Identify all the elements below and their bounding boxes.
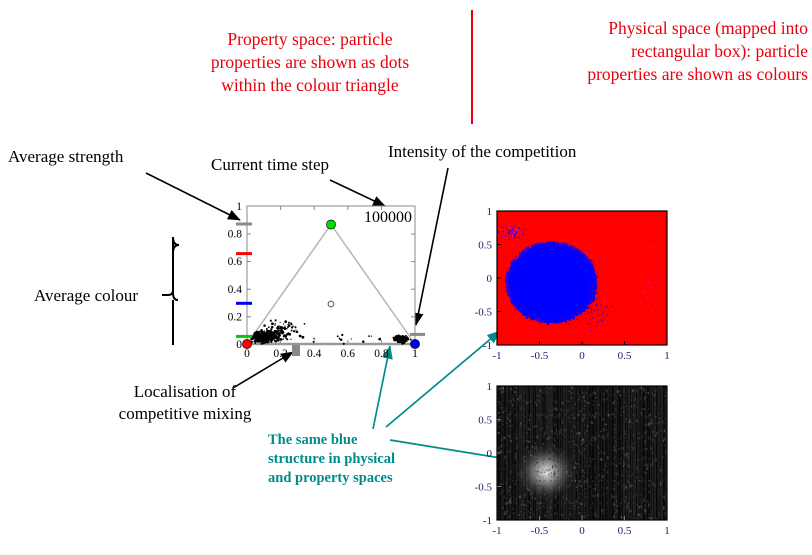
svg-text:0.6: 0.6 <box>228 256 243 268</box>
annotation-current-time-step: Current time step <box>211 154 329 176</box>
svg-text:0.5: 0.5 <box>478 240 492 252</box>
svg-text:0.8: 0.8 <box>374 348 389 360</box>
vertex-dot-red <box>242 339 251 348</box>
localisation-bar <box>292 345 300 356</box>
grayscale-y-ticks: 1 0.5 0 -0.5 -1 <box>475 381 493 527</box>
svg-text:1: 1 <box>487 206 493 218</box>
svg-text:-0.5: -0.5 <box>531 525 549 537</box>
right-header-line-2: rectangular box): particle <box>492 40 808 63</box>
svg-text:0.5: 0.5 <box>618 525 632 537</box>
same-blue-line-2: structure in physical <box>268 450 443 469</box>
svg-text:0: 0 <box>244 348 250 360</box>
annotation-intensity-of-competition: Intensity of the competition <box>388 141 576 163</box>
same-blue-line-1: The same blue <box>268 431 443 450</box>
right-header-line-1: Physical space (mapped into <box>492 17 808 40</box>
svg-text:0: 0 <box>236 339 242 351</box>
grayscale-x-ticks: -1 -0.5 0 0.5 1 <box>492 525 669 537</box>
svg-text:0.8: 0.8 <box>228 229 243 241</box>
physical-red-blue-y-ticks: 1 0.5 0 -0.5 -1 <box>475 206 493 352</box>
svg-text:-1: -1 <box>483 515 492 527</box>
svg-text:0.2: 0.2 <box>273 348 288 360</box>
right-header-text: Physical space (mapped into rectangular … <box>492 17 808 86</box>
left-header-line-3: within the colour triangle <box>160 74 460 97</box>
physical-space-red-blue-plot[interactable]: 1 0.5 0 -0.5 -1 -1 -0.5 0 0.5 1 <box>470 200 700 370</box>
same-blue-line-3: and property spaces <box>268 469 443 488</box>
svg-text:0.4: 0.4 <box>228 284 243 296</box>
svg-text:-1: -1 <box>483 340 492 352</box>
physical-red-blue-x-ticks: -1 -0.5 0 0.5 1 <box>492 350 669 362</box>
annotation-localisation: Localisation of competitive mixing <box>110 381 260 425</box>
average-colour-brace <box>162 237 179 295</box>
annotation-same-blue-structure: The same blue structure in physical and … <box>268 431 443 488</box>
property-space-plot[interactable]: 1 0.8 0.6 0.4 0.2 0 0 0.2 0.4 0.6 0.8 1 <box>222 196 432 381</box>
svg-text:0.5: 0.5 <box>478 415 492 427</box>
svg-text:0.2: 0.2 <box>228 311 243 323</box>
annotation-average-strength: Average strength <box>8 146 123 168</box>
localisation-line-2: competitive mixing <box>110 403 260 425</box>
svg-text:0.5: 0.5 <box>618 350 632 362</box>
svg-text:0.6: 0.6 <box>341 348 356 360</box>
svg-text:0: 0 <box>579 350 585 362</box>
annotation-average-colour: Average colour <box>34 285 138 307</box>
left-header-text: Property space: particle properties are … <box>160 28 460 97</box>
svg-text:0.4: 0.4 <box>307 348 322 360</box>
svg-text:1: 1 <box>412 348 418 360</box>
physical-space-grayscale-plot[interactable]: 1 0.5 0 -0.5 -1 -1 -0.5 0 0.5 1 <box>470 375 700 550</box>
left-header-line-2: properties are shown as dots <box>160 51 460 74</box>
svg-text:1: 1 <box>236 201 242 213</box>
time-step-label: 100000 <box>364 209 412 226</box>
svg-text:-1: -1 <box>492 350 501 362</box>
svg-text:0: 0 <box>487 448 493 460</box>
svg-text:1: 1 <box>664 350 670 362</box>
header-divider <box>471 10 473 124</box>
svg-text:0: 0 <box>579 525 585 537</box>
svg-text:1: 1 <box>664 525 670 537</box>
average-colour-brace-lower <box>173 245 178 300</box>
right-header-line-3: properties are shown as colours <box>492 63 808 86</box>
localisation-line-1: Localisation of <box>110 381 260 403</box>
svg-text:1: 1 <box>487 381 493 393</box>
svg-text:-0.5: -0.5 <box>475 307 493 319</box>
property-plot-x-ticks: 0 0.2 0.4 0.6 0.8 1 <box>244 348 418 360</box>
svg-text:-0.5: -0.5 <box>531 350 549 362</box>
svg-text:0: 0 <box>487 273 493 285</box>
svg-text:-1: -1 <box>492 525 501 537</box>
vertex-dot-blue <box>410 339 419 348</box>
svg-text:-0.5: -0.5 <box>475 482 493 494</box>
left-header-line-1: Property space: particle <box>160 28 460 51</box>
vertex-dot-green <box>326 220 335 229</box>
